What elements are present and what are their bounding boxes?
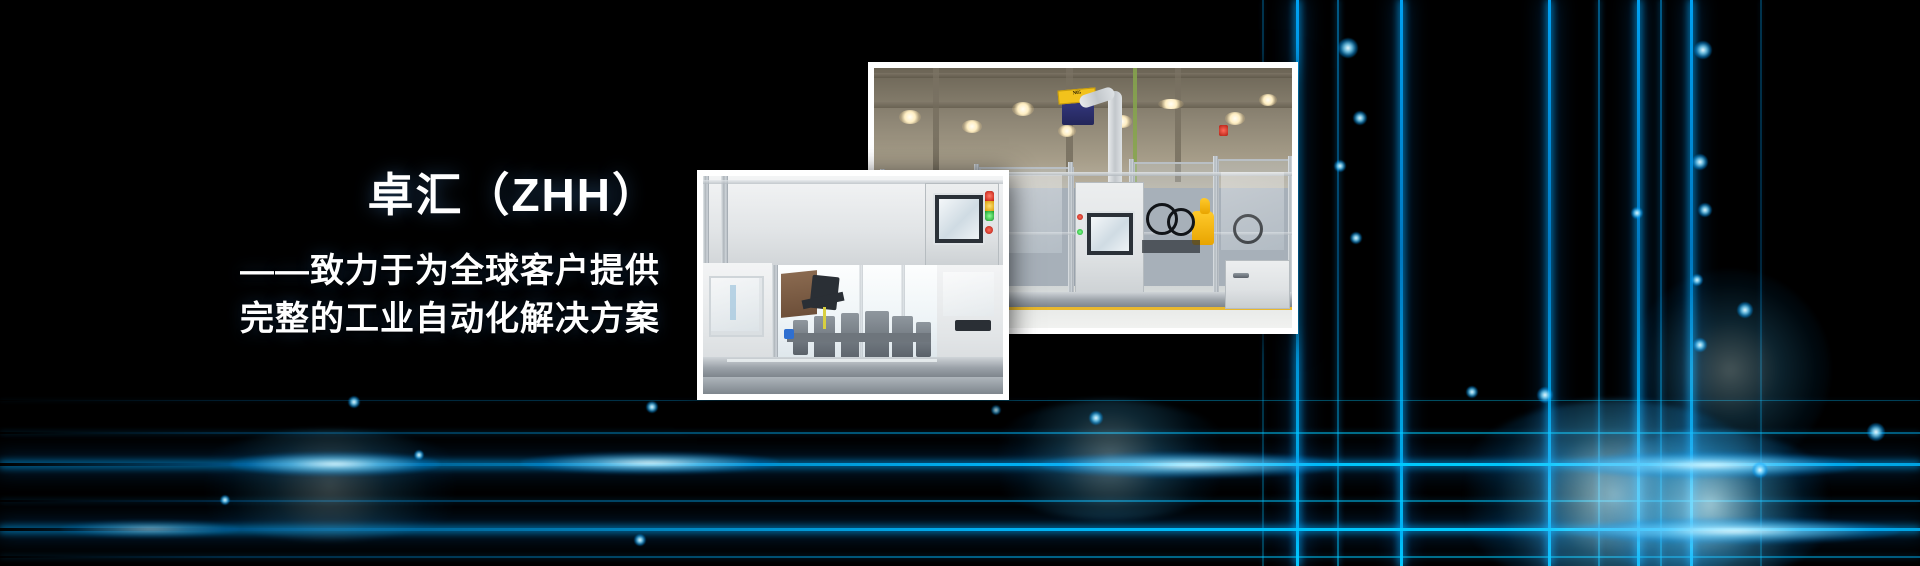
banner-title: 卓汇（ZHH）: [0, 168, 660, 223]
glow-point: [1350, 232, 1362, 244]
assembly-machine-photo: [697, 170, 1009, 400]
glow-point: [414, 450, 424, 460]
ambient-glow: [1450, 400, 1780, 566]
vertical-light-line: [1660, 0, 1662, 566]
vertical-light-line: [1400, 0, 1403, 566]
glow-point: [1693, 338, 1707, 352]
horizontal-light-line: [0, 400, 1920, 401]
hero-banner: 卓汇（ZHH） ——致力于为全球客户提供 完整的工业自动化解决方案: [0, 0, 1920, 566]
banner-copy: 卓汇（ZHH） ——致力于为全球客户提供 完整的工业自动化解决方案: [0, 168, 660, 344]
glow-point: [1698, 203, 1712, 217]
horizontal-light-line: [0, 528, 1920, 531]
photo-scene-front: [703, 176, 1003, 394]
vertical-light-line: [1548, 0, 1551, 566]
glow-point: [1338, 38, 1358, 58]
glow-point: [1089, 411, 1103, 425]
horizontal-light-line: [0, 500, 1920, 502]
glow-point: [348, 396, 360, 408]
glow-point: [1737, 302, 1753, 318]
horizontal-light-line: [0, 432, 1920, 434]
vertical-light-line: [1690, 0, 1693, 566]
glow-point: [1692, 154, 1708, 170]
glow-point: [634, 534, 646, 546]
ambient-glow: [1580, 430, 1840, 566]
horizontal-light-line: [0, 463, 1920, 466]
ambient-glow: [980, 400, 1240, 520]
glow-point: [1694, 41, 1712, 59]
light-streak: [1570, 518, 1900, 544]
subtitle-line-1: ——致力于为全球客户提供: [0, 247, 660, 295]
glow-point: [1353, 111, 1367, 125]
horizontal-light-line: [0, 556, 1920, 558]
vertical-light-line: [1760, 0, 1762, 566]
vertical-light-line: [1337, 0, 1339, 566]
ambient-glow: [180, 430, 480, 540]
subtitle-line-2: 完整的工业自动化解决方案: [0, 295, 660, 343]
vertical-light-line: [1637, 0, 1640, 566]
glow-point: [646, 401, 658, 413]
glow-point: [1334, 160, 1346, 172]
vertical-light-line: [1598, 0, 1600, 566]
glow-point: [1466, 386, 1478, 398]
glow-point: [991, 405, 1001, 415]
banner-subtitle: ——致力于为全球客户提供 完整的工业自动化解决方案: [0, 247, 660, 344]
